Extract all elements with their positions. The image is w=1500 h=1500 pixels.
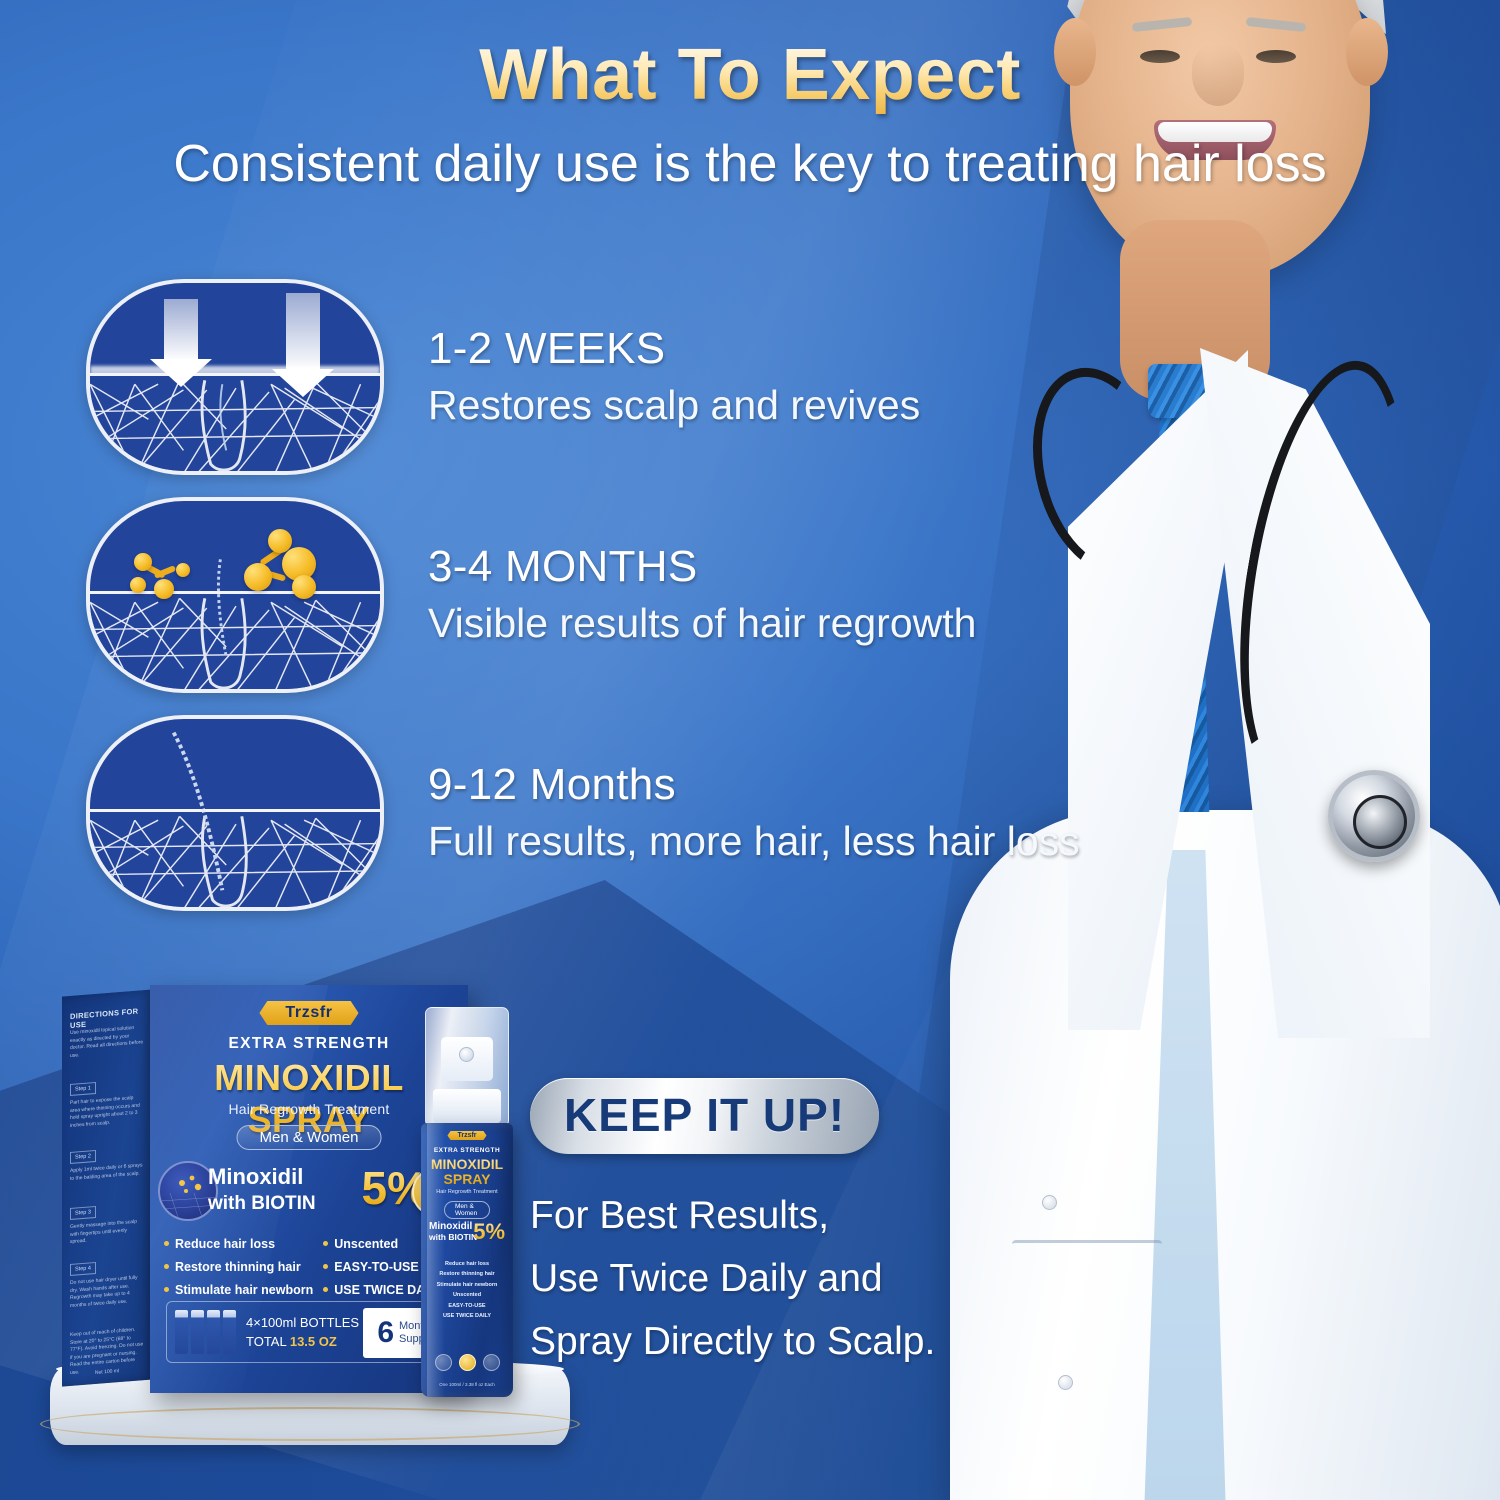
keep-it-up-label: KEEP IT UP! bbox=[564, 1089, 845, 1141]
bottle-nozzle-icon bbox=[459, 1047, 474, 1062]
supply-number: 6 bbox=[377, 1316, 394, 1350]
callout-line-3: Spray Directly to Scalp. bbox=[530, 1310, 960, 1373]
benefit-item: Stimulate hair newborn bbox=[164, 1279, 313, 1302]
benefit-item: EASY-TO-USE bbox=[421, 1301, 513, 1311]
benefit-item: Reduce hair loss bbox=[164, 1233, 313, 1256]
total-label: TOTAL bbox=[246, 1334, 286, 1349]
bottle-strength-label: Minoxidil with BIOTIN bbox=[429, 1221, 477, 1243]
bottle-label: Trzsfr EXTRA STRENGTH MINOXIDIL SPRAY Ha… bbox=[421, 1123, 513, 1397]
spray-bottle: Trzsfr EXTRA STRENGTH MINOXIDIL SPRAY Ha… bbox=[415, 1007, 519, 1397]
benefit-item: Restore thinning hair bbox=[421, 1269, 513, 1279]
benefit-item: Restore thinning hair bbox=[164, 1256, 313, 1279]
quantity-panel: 4×100ml BOTTLES TOTAL 13.5 OZ 6 Month Su… bbox=[166, 1301, 452, 1363]
timeline-text-1: 1-2 WEEKS Restores scalp and revives bbox=[428, 323, 920, 430]
package-side-panel: DIRECTIONS FOR USE Use minoxidil topical… bbox=[62, 989, 154, 1386]
bottle-seals bbox=[421, 1354, 513, 1371]
scalp-molecules-icon bbox=[86, 497, 384, 693]
total-value: 13.5 OZ bbox=[290, 1334, 337, 1349]
timeline-text-3: 9-12 Months Full results, more hair, les… bbox=[428, 759, 1080, 866]
step-4-text: Do not use hair dryer until fully dry. W… bbox=[70, 1274, 144, 1310]
callout-instructions: For Best Results, Use Twice Daily and Sp… bbox=[530, 1184, 960, 1374]
bottle-extra-strength: EXTRA STRENGTH bbox=[421, 1147, 513, 1154]
brand-name: Trzsfr bbox=[259, 1001, 358, 1025]
bottle-product-name: MINOXIDIL SPRAY bbox=[421, 1157, 513, 1186]
timeline-row-2: 3-4 MONTHS Visible results of hair regro… bbox=[86, 486, 1126, 704]
timeline-description: Full results, more hair, less hair loss bbox=[428, 817, 1080, 866]
step-1-text: Part hair to expose the scalp area where… bbox=[70, 1094, 144, 1130]
dermis-mesh-icon bbox=[90, 719, 380, 910]
coat-button bbox=[1058, 1375, 1073, 1390]
bottle-audience-badge: Men & Women bbox=[444, 1201, 490, 1219]
benefit-list: Reduce hair loss Restore thinning hair S… bbox=[164, 1233, 456, 1302]
timeline-description: Restores scalp and revives bbox=[428, 381, 920, 430]
bottle-benefit-list: Reduce hair loss Restore thinning hair S… bbox=[421, 1259, 513, 1322]
timeline-term: 1-2 WEEKS bbox=[428, 323, 920, 375]
bottle-strength-percent: 5% bbox=[473, 1219, 505, 1245]
audience-badge: Men & Women bbox=[237, 1125, 382, 1150]
benefit-list-left: Reduce hair loss Restore thinning hair S… bbox=[164, 1233, 313, 1302]
keep-it-up-badge: KEEP IT UP! bbox=[530, 1078, 879, 1154]
page-title: What To Expect bbox=[0, 38, 1500, 114]
timeline-term: 3-4 MONTHS bbox=[428, 541, 976, 593]
dermis-mesh-icon bbox=[90, 283, 380, 474]
scalp-full-hair-icon bbox=[86, 715, 384, 911]
keep-it-up-callout: KEEP IT UP! For Best Results, Use Twice … bbox=[530, 1078, 960, 1374]
strength-line-1: Minoxidil bbox=[208, 1165, 316, 1190]
page-subtitle: Consistent daily use is the key to treat… bbox=[0, 136, 1500, 193]
molecule-large-icon bbox=[242, 525, 334, 601]
bottle-collar bbox=[433, 1089, 501, 1123]
promo-graphic: What To Expect Consistent daily use is t… bbox=[0, 0, 1500, 1500]
directions-intro: Use minoxidil topical solution exactly a… bbox=[70, 1024, 144, 1060]
strength-line-2: with BIOTIN bbox=[208, 1193, 316, 1214]
timeline-text-2: 3-4 MONTHS Visible results of hair regro… bbox=[428, 541, 976, 648]
quantity-text: 4×100ml BOTTLES TOTAL 13.5 OZ bbox=[246, 1313, 359, 1352]
molecule-small-icon bbox=[128, 549, 198, 603]
bottle-icons bbox=[175, 1310, 236, 1354]
expectation-timeline: 1-2 WEEKS Restores scalp and revives bbox=[86, 268, 1126, 922]
product-podium-rim bbox=[40, 1407, 580, 1441]
bottle-tagline: Hair Regrowth Treatment bbox=[421, 1189, 513, 1195]
benefit-item: Unscented bbox=[421, 1290, 513, 1300]
quantity-label: 4×100ml BOTTLES bbox=[246, 1313, 359, 1333]
benefit-item: USE TWICE DAILY bbox=[421, 1311, 513, 1321]
coat-button bbox=[1042, 1195, 1057, 1210]
product-shot: DIRECTIONS FOR USE Use minoxidil topical… bbox=[50, 985, 570, 1445]
coat-pocket bbox=[1012, 1240, 1162, 1360]
timeline-row-3: 9-12 Months Full results, more hair, les… bbox=[86, 704, 1126, 922]
timeline-row-1: 1-2 WEEKS Restores scalp and revives bbox=[86, 268, 1126, 486]
benefit-item: Stimulate hair newborn bbox=[421, 1280, 513, 1290]
timeline-description: Visible results of hair regrowth bbox=[428, 599, 976, 648]
stethoscope-chestpiece bbox=[1328, 770, 1420, 862]
benefit-item: Reduce hair loss bbox=[421, 1259, 513, 1269]
callout-line-2: Use Twice Daily and bbox=[530, 1247, 960, 1310]
header: What To Expect Consistent daily use is t… bbox=[0, 38, 1500, 193]
timeline-term: 9-12 Months bbox=[428, 759, 1080, 811]
strength-label: Minoxidil with BIOTIN bbox=[208, 1165, 316, 1214]
step-3-text: Gently massage into the scalp with finge… bbox=[70, 1218, 144, 1246]
callout-line-1: For Best Results, bbox=[530, 1184, 960, 1247]
scalp-absorption-icon bbox=[86, 279, 384, 475]
bottle-brand-name: Trzsfr bbox=[447, 1131, 486, 1140]
bottle-volume-note: One 100ml / 3.38 fl oz Each bbox=[421, 1382, 513, 1387]
